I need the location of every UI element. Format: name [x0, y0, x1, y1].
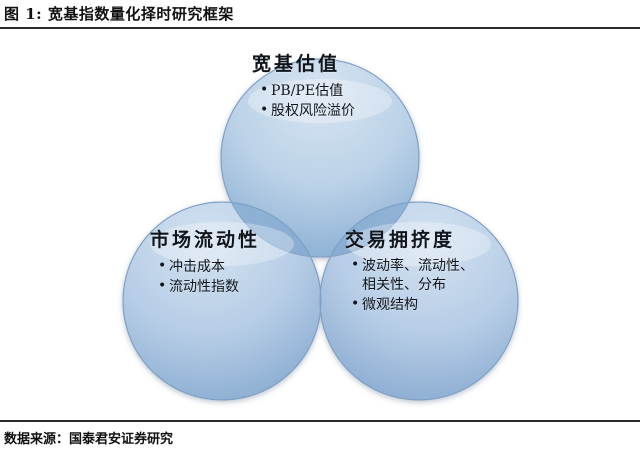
venn-circles-graphic	[0, 29, 640, 420]
page-title: 图 1: 宽基指数量化择时研究框架	[4, 3, 234, 24]
figure-source: 数据来源：国泰君安证券研究	[4, 428, 173, 447]
figure-title-row: 图 1: 宽基指数量化择时研究框架	[0, 0, 640, 27]
figure-body: 宽基估值 PB/PE估值 股权风险溢价 市场流动性 冲击成本 流动性指数 交易拥…	[0, 29, 640, 420]
source-divider	[0, 420, 640, 422]
venn-diagram: 宽基估值 PB/PE估值 股权风险溢价 市场流动性 冲击成本 流动性指数 交易拥…	[0, 29, 640, 420]
